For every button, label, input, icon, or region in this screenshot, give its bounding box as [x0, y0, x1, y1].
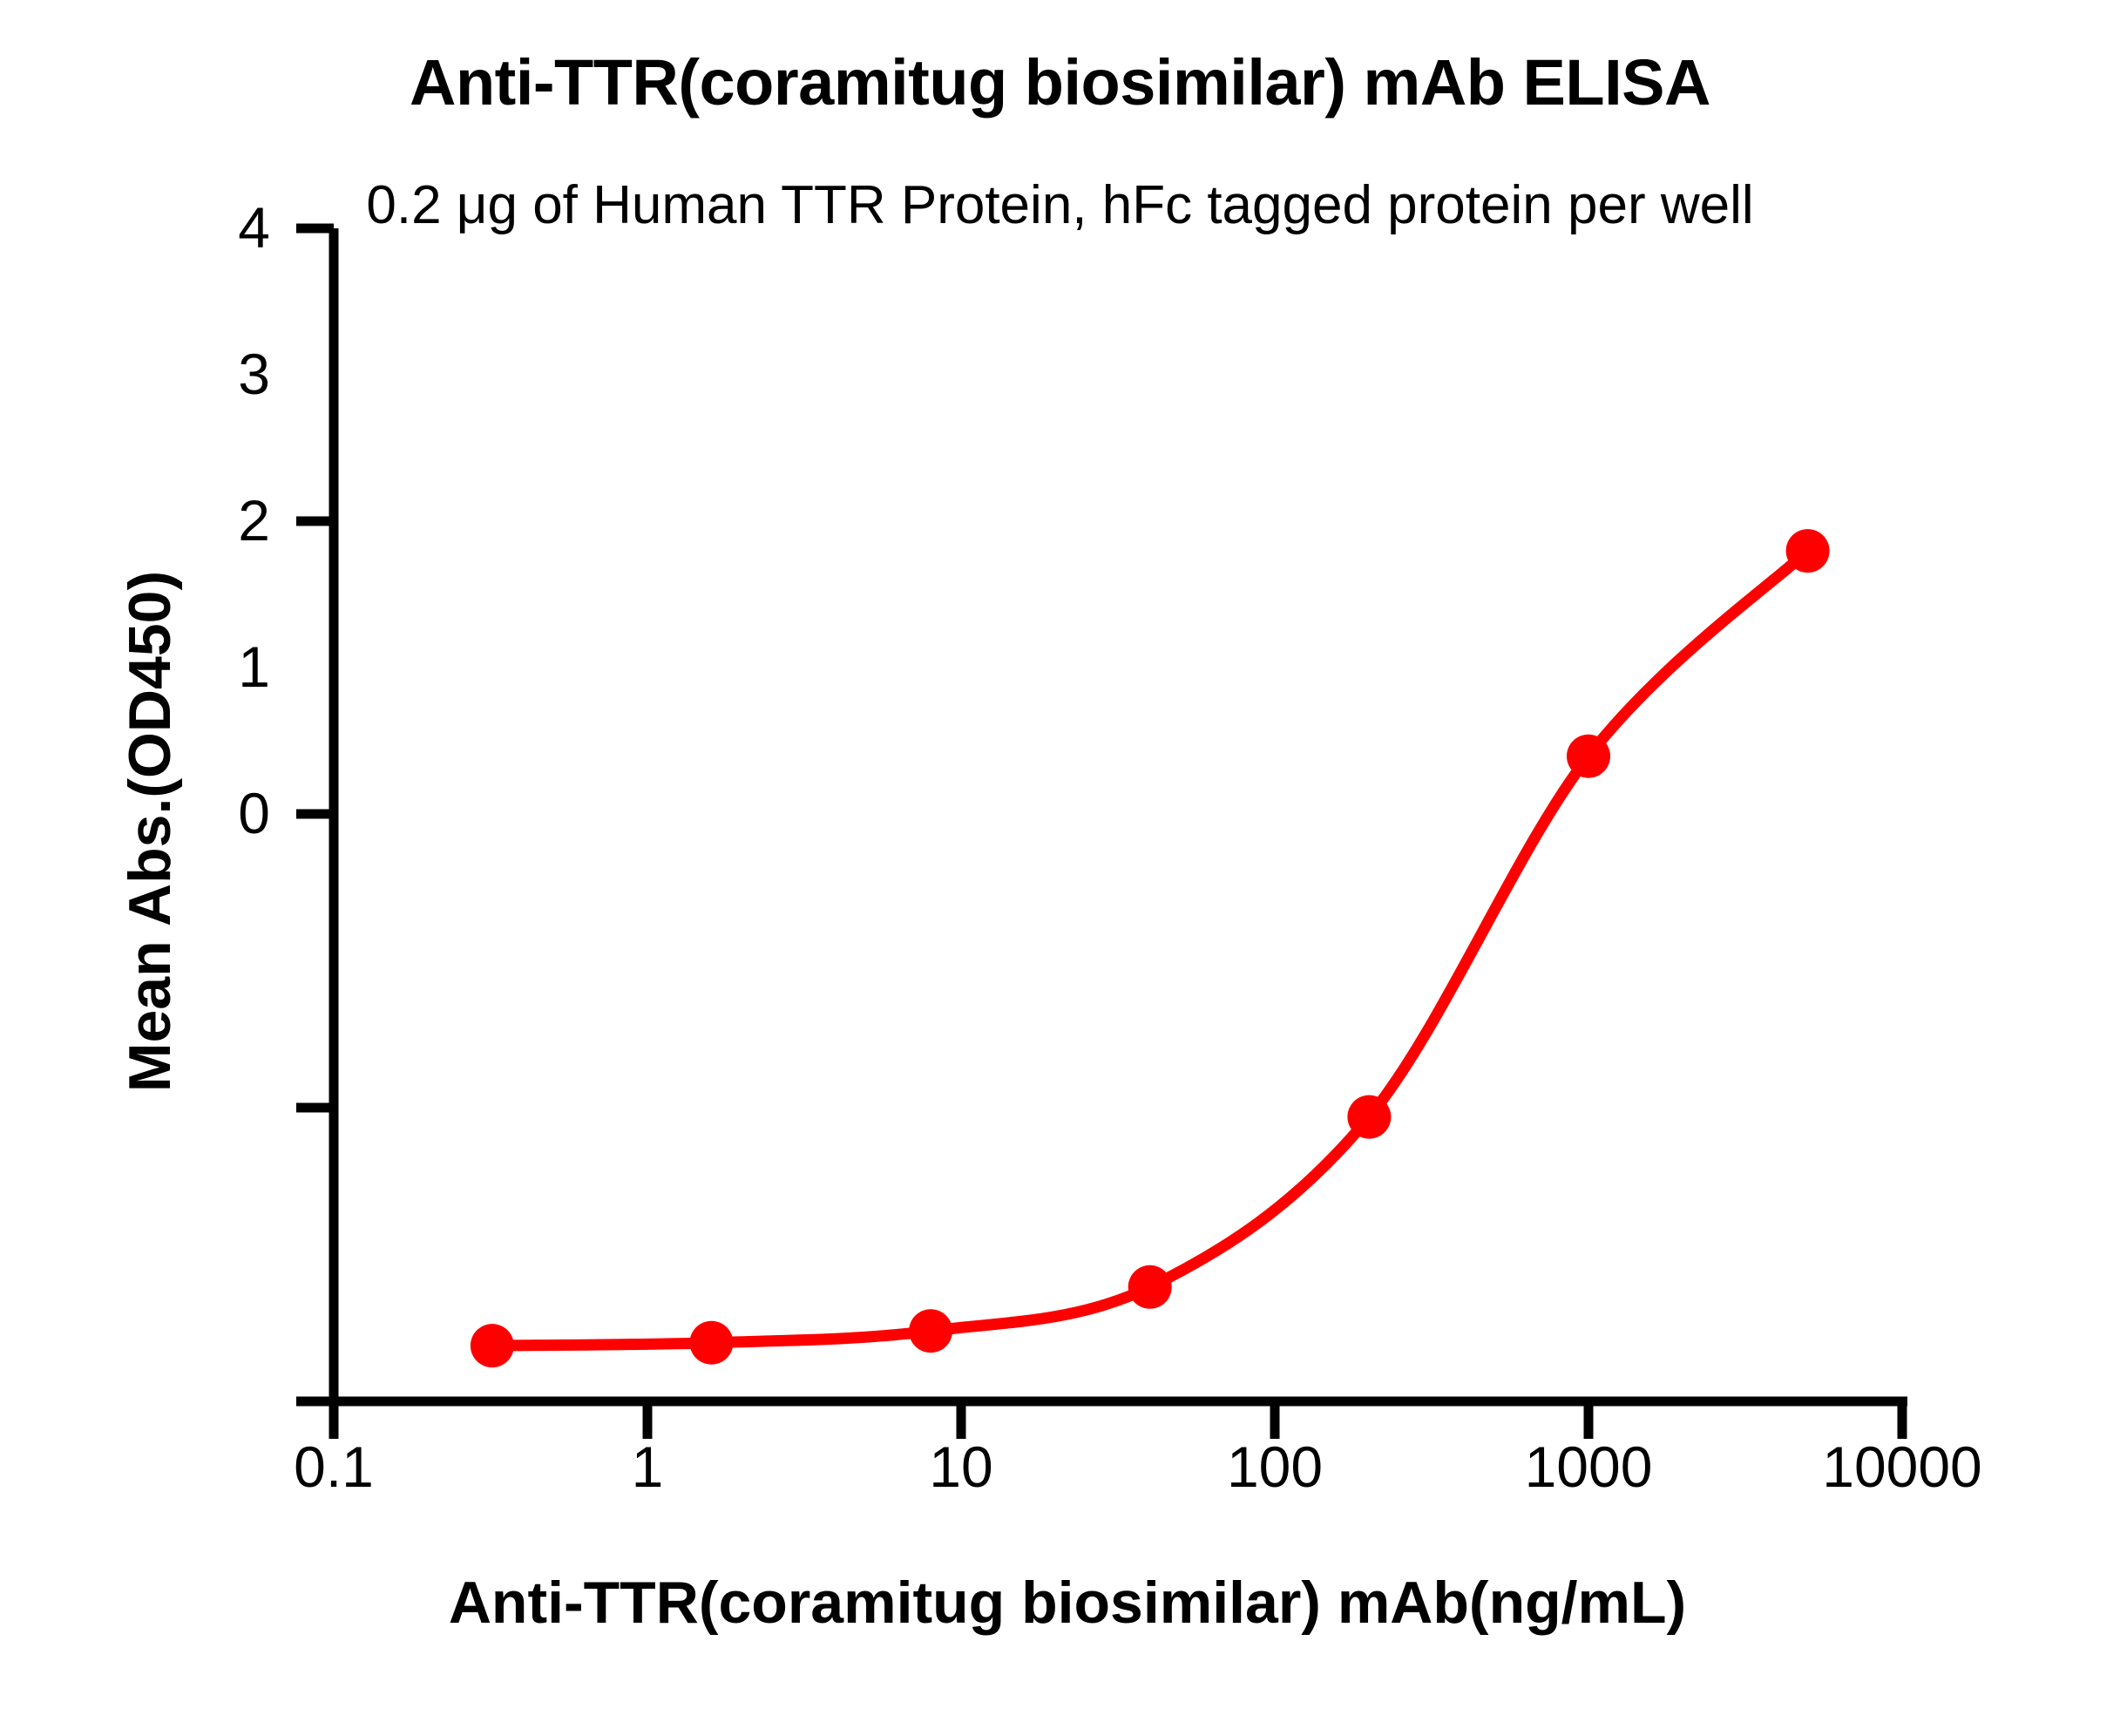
data-point	[1128, 1265, 1172, 1309]
data-point	[471, 1324, 514, 1367]
data-series-group	[471, 529, 1830, 1367]
chart-canvas	[0, 0, 2120, 1736]
plot-area: Mean Abs.(OD450) Anti-TTR(coramitug bios…	[0, 0, 2120, 1736]
series-markers	[471, 529, 1830, 1367]
data-point	[1347, 1095, 1391, 1139]
data-point	[1786, 529, 1830, 573]
data-point	[909, 1309, 952, 1353]
data-point	[690, 1321, 734, 1365]
axes-group	[296, 228, 1907, 1439]
chart-figure: Anti-TTR(coramitug biosimilar) mAb ELISA…	[0, 0, 2120, 1736]
data-point	[1567, 735, 1610, 778]
series-curve	[492, 551, 1808, 1346]
